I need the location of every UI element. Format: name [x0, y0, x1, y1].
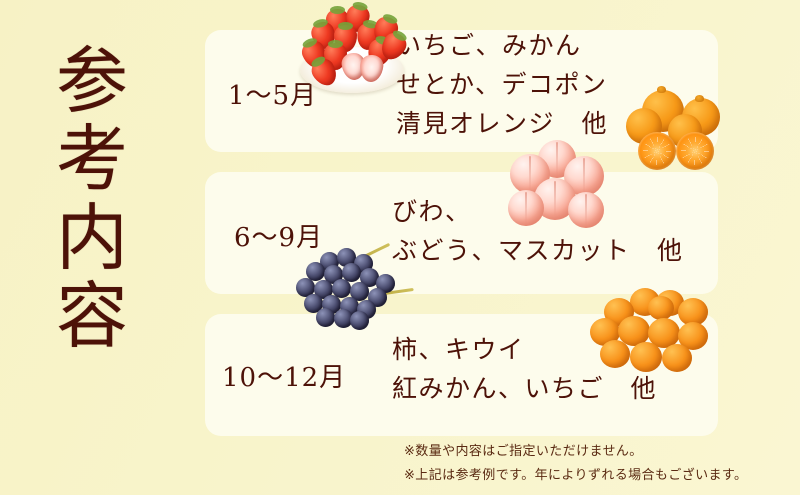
- page-title: 参 考 内 容: [46, 42, 138, 372]
- orange-slice-icon: [638, 132, 676, 170]
- page-title-char-4: 容: [56, 277, 128, 355]
- mandarin-icon: [630, 342, 662, 372]
- peach-icon: [508, 190, 544, 226]
- footnote-2: ※上記は参考例です。年によりずれる場合もございます。: [404, 464, 747, 488]
- grape-berry-icon: [316, 308, 335, 327]
- orange-stem-nub: [657, 86, 666, 93]
- fruit-list-1-line-3: 清見オレンジ 他: [396, 104, 608, 143]
- peach-image: [508, 140, 608, 240]
- mandarin-icon: [600, 340, 630, 368]
- fruit-list-1-line-2: せとか、デコポン: [396, 65, 608, 104]
- page-title-char-2: 考: [56, 120, 128, 198]
- dekopon-orange-image: [624, 80, 736, 172]
- orange-slice-icon: [676, 132, 714, 170]
- mandarin-pile-image: [590, 288, 720, 374]
- peach-icon: [568, 192, 604, 228]
- poster-root: 参 考 内 容 1〜5月 6〜9月 10〜12月 いちご、みかん せとか、デコポ…: [0, 0, 800, 495]
- footnote-1: ※数量や内容はご指定いただけません。: [404, 440, 747, 464]
- orange-stem-nub: [695, 95, 704, 102]
- fruit-list-3-line-2: 紅みかん、いちご 他: [392, 369, 657, 408]
- page-title-char-3: 内: [56, 199, 128, 277]
- fruit-list-1-line-1: いちご、みかん: [396, 26, 608, 65]
- grape-image: [292, 248, 414, 326]
- mandarin-peeled-icon: [648, 296, 674, 320]
- fruit-list-1: いちご、みかん せとか、デコポン 清見オレンジ 他: [396, 26, 608, 143]
- mandarin-icon: [662, 344, 692, 372]
- strawberry-plate-image: [300, 3, 404, 98]
- month-label-3: 10〜12月: [222, 357, 346, 394]
- grape-berry-icon: [350, 311, 369, 330]
- page-title-char-1: 参: [56, 42, 128, 120]
- footnotes: ※数量や内容はご指定いただけません。 ※上記は参考例です。年によりずれる場合もご…: [404, 440, 747, 488]
